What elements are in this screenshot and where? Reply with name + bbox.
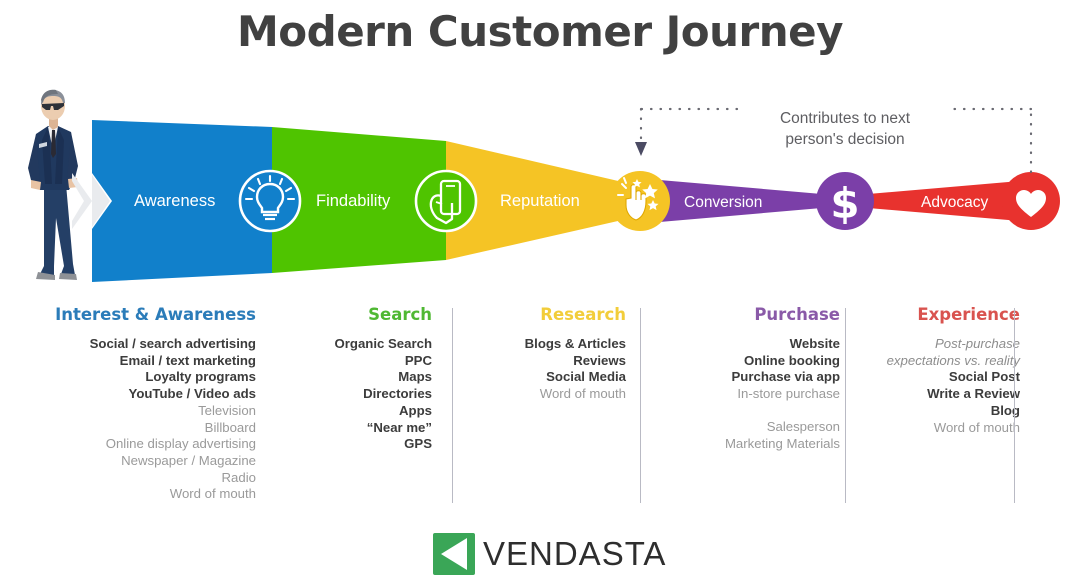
column-divider — [640, 308, 641, 503]
feedback-arrowhead-icon — [635, 142, 647, 156]
infographic-canvas: Modern Customer Journey — [0, 0, 1080, 587]
vendasta-wordmark: VENDASTA — [483, 535, 666, 573]
column-header-purchase: Purchase — [660, 305, 840, 324]
list-item: Online display advertising — [30, 436, 256, 453]
column-list-experience: Post-purchaseexpectations vs. realitySoc… — [864, 336, 1020, 436]
vendasta-chevron-mark — [433, 533, 475, 575]
list-item: expectations vs. reality — [864, 353, 1020, 370]
list-item: Radio — [30, 470, 256, 487]
page-title: Modern Customer Journey — [0, 7, 1080, 56]
list-item: Newspaper / Magazine — [30, 453, 256, 470]
feedback-annotation-text: Contributes to next person's decision — [739, 108, 951, 150]
list-item: Reviews — [466, 353, 626, 370]
column-purchase: Purchase WebsiteOnline bookingPurchase v… — [660, 305, 840, 452]
list-item: Blog — [864, 403, 1020, 420]
column-divider — [845, 308, 846, 503]
list-item: Website — [660, 336, 840, 353]
feedback-annotation-line-1: Contributes to next — [739, 108, 951, 129]
column-header-research: Research — [466, 305, 626, 324]
list-item: Television — [30, 403, 256, 420]
list-item: Social Post — [864, 369, 1020, 386]
column-list-interest-awareness: Social / search advertisingEmail / text … — [30, 336, 256, 503]
list-item: Salesperson — [660, 419, 840, 436]
column-list-research: Blogs & ArticlesReviewsSocial MediaWord … — [466, 336, 626, 403]
funnel-label-reputation: Reputation — [500, 192, 580, 211]
column-header-experience: Experience — [864, 305, 1020, 324]
list-item: Word of mouth — [864, 420, 1020, 437]
column-interest-awareness: Interest & Awareness Social / search adv… — [30, 305, 256, 503]
funnel-label-findability: Findability — [316, 192, 390, 211]
list-item: Maps — [276, 369, 432, 386]
list-item: Social Media — [466, 369, 626, 386]
list-item: Apps — [276, 403, 432, 420]
list-item: Write a Review — [864, 386, 1020, 403]
list-item: Marketing Materials — [660, 436, 840, 453]
funnel-label-awareness: Awareness — [134, 192, 215, 211]
list-item: PPC — [276, 353, 432, 370]
list-item: Social / search advertising — [30, 336, 256, 353]
list-item: “Near me” — [276, 420, 432, 437]
chevron-right-icon — [72, 173, 92, 229]
list-item: Blogs & Articles — [466, 336, 626, 353]
list-item: Online booking — [660, 353, 840, 370]
list-item: Email / text marketing — [30, 353, 256, 370]
list-item: Word of mouth — [30, 486, 256, 503]
phone-in-hand-icon — [416, 171, 476, 231]
list-item: YouTube / Video ads — [30, 386, 256, 403]
funnel-label-advocacy: Advocacy — [921, 194, 988, 212]
tap-stars-icon — [610, 171, 670, 231]
column-header-search: Search — [276, 305, 432, 324]
channel-columns: Interest & Awareness Social / search adv… — [0, 305, 1080, 515]
column-list-search: Organic SearchPPCMapsDirectoriesApps“Nea… — [276, 336, 432, 453]
svg-text:$: $ — [830, 179, 859, 228]
dollar-icon: $ — [816, 172, 874, 230]
list-item: Word of mouth — [466, 386, 626, 403]
column-research: Research Blogs & ArticlesReviewsSocial M… — [466, 305, 626, 403]
list-item: Organic Search — [276, 336, 432, 353]
lightbulb-icon — [240, 171, 300, 231]
list-item: GPS — [276, 436, 432, 453]
funnel-label-conversion: Conversion — [684, 194, 762, 212]
column-search: Search Organic SearchPPCMapsDirectoriesA… — [276, 305, 432, 453]
list-item: Purchase via app — [660, 369, 840, 386]
list-item: Directories — [276, 386, 432, 403]
feedback-annotation-line-2: person's decision — [739, 129, 951, 150]
heart-icon — [1002, 172, 1060, 230]
column-divider — [1014, 308, 1015, 503]
vendasta-logo: VENDASTA — [433, 532, 666, 576]
list-item: Post-purchase — [864, 336, 1020, 353]
list-item: Billboard — [30, 420, 256, 437]
column-header-interest-awareness: Interest & Awareness — [30, 305, 256, 324]
column-list-purchase: WebsiteOnline bookingPurchase via appIn-… — [660, 336, 840, 452]
list-item: In-store purchase — [660, 386, 840, 403]
list-spacer — [660, 403, 840, 419]
column-experience: Experience Post-purchaseexpectations vs.… — [864, 305, 1020, 436]
list-item: Loyalty programs — [30, 369, 256, 386]
column-divider — [452, 308, 453, 503]
